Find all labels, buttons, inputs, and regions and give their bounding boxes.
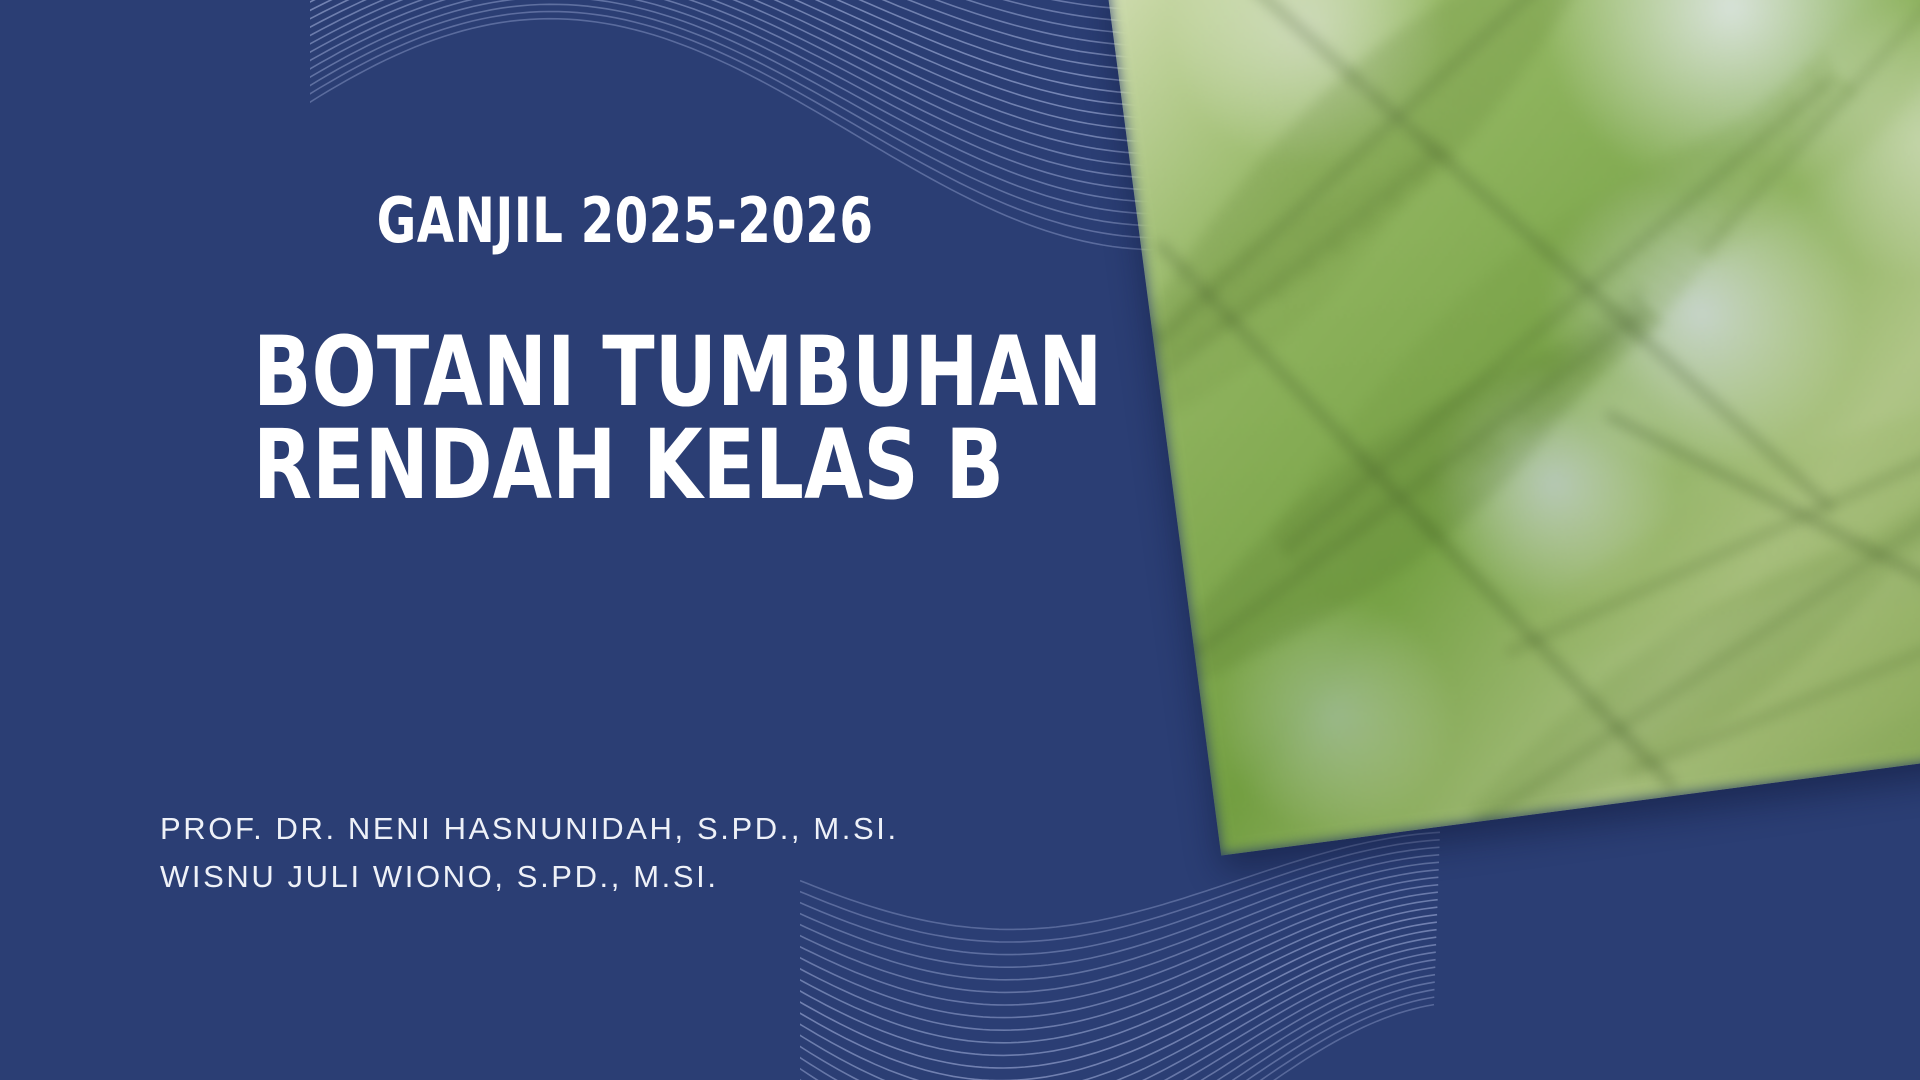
fern-photo <box>1106 0 1920 856</box>
author-list: PROF. DR. NENI HASNUNIDAH, S.PD., M.SI. … <box>160 805 1160 901</box>
page-title-line-1: BOTANI TUMBUHAN <box>253 326 997 419</box>
author-line: WISNU JULI WIONO, S.PD., M.SI. <box>160 853 1160 901</box>
fern-photo-image <box>1106 0 1920 856</box>
page-title-line-2: RENDAH KELAS B <box>253 419 997 512</box>
title-text-block: GANJIL 2025-2026 BOTANI TUMBUHAN RENDAH … <box>160 190 1090 512</box>
semester-eyebrow: GANJIL 2025-2026 <box>262 190 987 252</box>
page-title: BOTANI TUMBUHAN RENDAH KELAS B <box>160 326 1090 512</box>
author-line: PROF. DR. NENI HASNUNIDAH, S.PD., M.SI. <box>160 805 1160 853</box>
presentation-slide: GANJIL 2025-2026 BOTANI TUMBUHAN RENDAH … <box>0 0 1920 1080</box>
